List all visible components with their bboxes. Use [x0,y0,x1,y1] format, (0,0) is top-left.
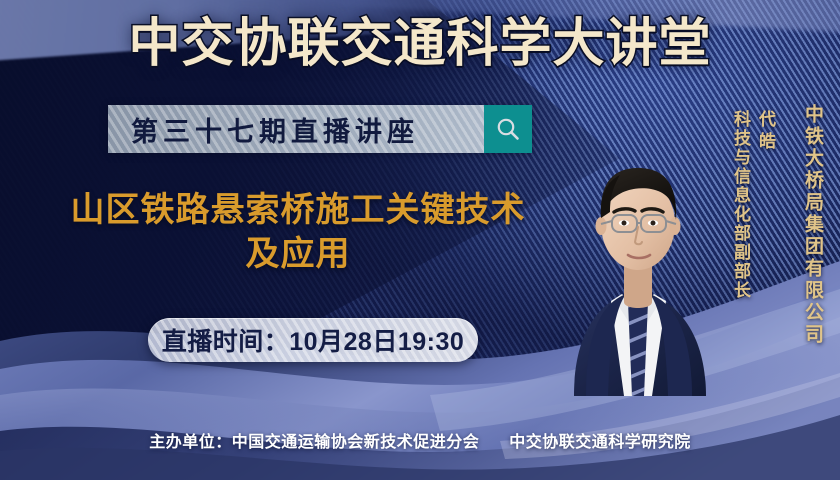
search-icon [495,116,521,142]
lecture-title-line-1: 山区铁路悬索桥施工关键技术 [34,188,562,232]
footer-organizer-1: 中国交通运输协会新技术促进分会 [232,434,480,451]
speaker-organization: 中铁大桥局集团有限公司 [799,104,826,346]
lecture-title: 山区铁路悬索桥施工关键技术 及应用 [34,188,562,276]
page-title: 中交协联交通科学大讲堂 [0,14,840,74]
footer-organizers: 主办单位：中国交通运输协会新技术促进分会中交协联交通科学研究院 [0,428,840,452]
speaker-portrait [556,96,724,396]
poster-canvas: 中交协联交通科学大讲堂 第三十七期直播讲座 山区铁路悬索桥施工关键技术 及应用 … [0,0,840,480]
live-time-text: 直播时间：10月28日19:30 [162,322,465,358]
footer-organizer-2: 中交协联交通科学研究院 [509,434,691,451]
search-button[interactable] [484,105,532,153]
episode-label: 第三十七期直播讲座 [108,105,484,153]
live-time-badge: 直播时间：10月28日19:30 [148,318,478,362]
footer-prefix: 主办单位： [149,434,232,451]
episode-banner: 第三十七期直播讲座 [108,105,532,153]
speaker-position: 科技与信息化部副部长 [728,110,753,300]
speaker-info: 代皓 科技与信息化部副部长 [728,110,778,300]
speaker-name: 代皓 [753,110,778,300]
lecture-title-line-2: 及应用 [34,232,562,276]
